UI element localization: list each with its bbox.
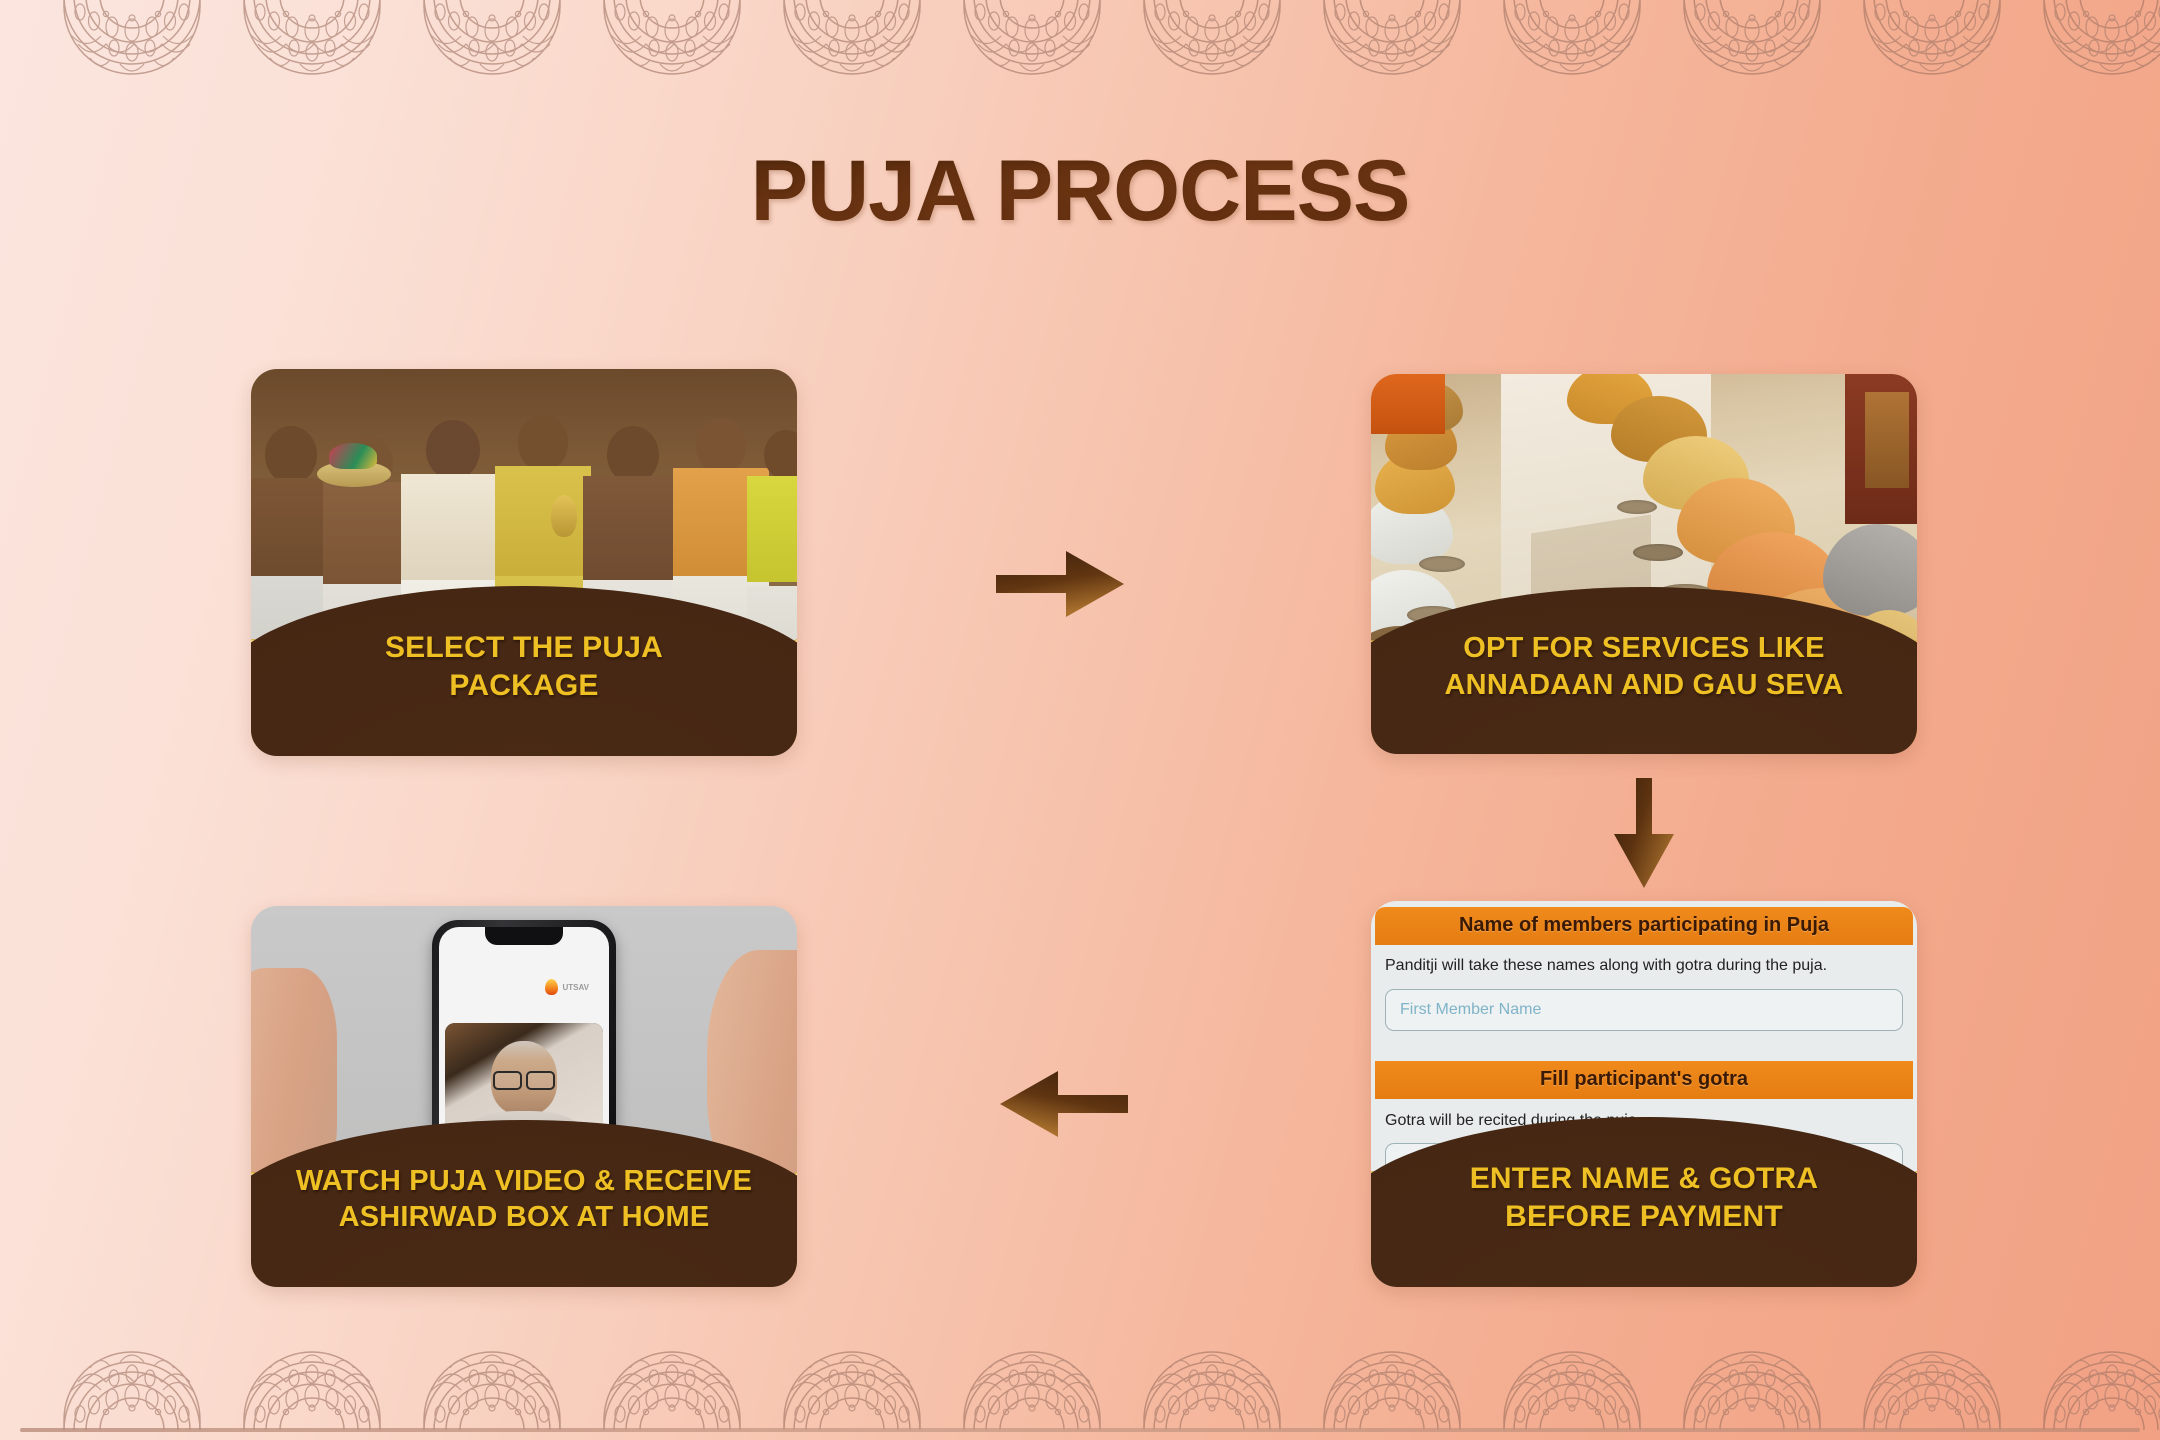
arrow-right-icon — [996, 548, 1124, 620]
brand-text: UTSAV — [562, 983, 589, 992]
caption-enter-name-gotra: ENTER NAME & GOTRA BEFORE PAYMENT — [1415, 1109, 1874, 1287]
step-card-opt-services[interactable]: OPT FOR SERVICES LIKE ANNADAAN AND GAU S… — [1371, 374, 1917, 754]
arrow-left-icon — [1000, 1068, 1128, 1140]
form-section-header-members: Name of members participating in Puja — [1375, 907, 1913, 945]
caption-line-2: ASHIRWAD BOX AT HOME — [339, 1199, 710, 1236]
app-brand-logo: UTSAV — [545, 979, 589, 995]
phone-notch — [485, 927, 563, 945]
page-title: PUJA PROCESS — [0, 142, 2160, 241]
caption-line-1: ENTER NAME & GOTRA — [1470, 1160, 1819, 1198]
form-section-header-gotra: Fill participant's gotra — [1375, 1061, 1913, 1099]
infographic-canvas: PUJA PROCESS — [0, 0, 2160, 1440]
caption-line-1: SELECT THE PUJA — [385, 629, 663, 667]
caption-line-2: BEFORE PAYMENT — [1505, 1198, 1783, 1236]
caption-select-package: SELECT THE PUJA PACKAGE — [295, 578, 754, 756]
first-member-name-input[interactable]: First Member Name — [1385, 989, 1903, 1031]
caption-line-1: WATCH PUJA VIDEO & RECEIVE — [296, 1163, 752, 1200]
arrow-down-icon — [1614, 778, 1674, 888]
bottom-mandala-border — [0, 1338, 2160, 1430]
top-mandala-border — [0, 0, 2160, 88]
caption-line-2: ANNADAAN AND GAU SEVA — [1445, 667, 1844, 704]
caption-line-1: OPT FOR SERVICES LIKE — [1463, 630, 1824, 667]
bottom-divider-line — [20, 1428, 2140, 1432]
step-card-watch-video[interactable]: UTSAV 0:22 / 1:00 — [251, 906, 797, 1287]
flame-icon — [545, 979, 558, 995]
glasses-icon — [493, 1071, 555, 1086]
step-card-select-package[interactable]: SELECT THE PUJA PACKAGE — [251, 369, 797, 756]
caption-line-2: PACKAGE — [449, 667, 598, 705]
caption-watch-video: WATCH PUJA VIDEO & RECEIVE ASHIRWAD BOX … — [295, 1112, 754, 1287]
caption-opt-services: OPT FOR SERVICES LIKE ANNADAAN AND GAU S… — [1415, 579, 1874, 754]
step-card-enter-name-gotra[interactable]: Name of members participating in Puja Pa… — [1371, 901, 1917, 1287]
input-placeholder-text: First Member Name — [1400, 1001, 1541, 1019]
page-title-text: PUJA PROCESS — [751, 142, 1410, 241]
form-note-members: Panditji will take these names along wit… — [1385, 957, 1903, 975]
